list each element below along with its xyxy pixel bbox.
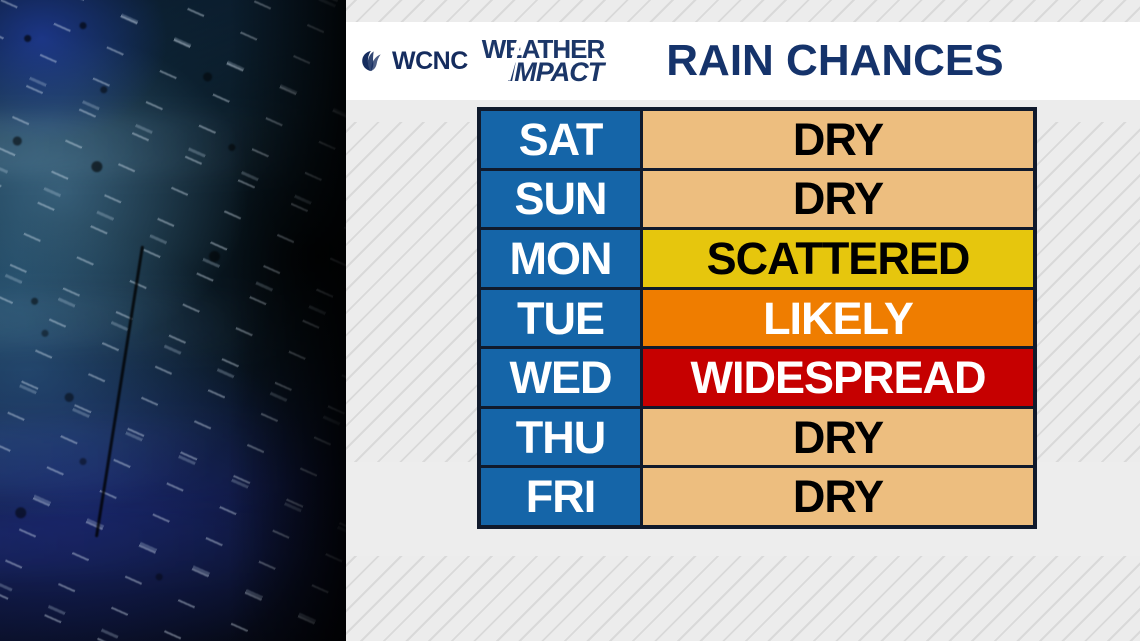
- page-title: RAIN CHANCES: [666, 36, 1003, 86]
- weather-impact-line2: IMPACT: [508, 59, 605, 86]
- day-label-cell: MON: [481, 230, 640, 287]
- table-row: THUDRY: [481, 409, 1033, 466]
- station-branding: WCNC: [360, 49, 468, 74]
- header-bar: WCNC WEATHER IMPACT RAIN CHANCES: [346, 22, 1140, 100]
- diagonal-stripe-band: [346, 0, 1140, 22]
- day-label-cell: WED: [481, 349, 640, 406]
- day-label-cell: SUN: [481, 171, 640, 228]
- day-label-cell: TUE: [481, 290, 640, 347]
- day-label-cell: SAT: [481, 111, 640, 168]
- day-label-cell: THU: [481, 409, 640, 466]
- rain-chances-table: SATDRYSUNDRYMONSCATTEREDTUELIKELYWEDWIDE…: [477, 107, 1037, 529]
- weather-graphic: WCNC WEATHER IMPACT RAIN CHANCES SATDRYS…: [0, 0, 1140, 641]
- rain-chance-cell: WIDESPREAD: [643, 349, 1033, 406]
- weather-impact-logo: WEATHER IMPACT: [482, 36, 605, 86]
- rain-chance-cell: DRY: [643, 171, 1033, 228]
- nbc-peacock-icon: [360, 50, 382, 72]
- rain-storm-photo: [0, 0, 346, 641]
- rain-chance-cell: SCATTERED: [643, 230, 1033, 287]
- station-callsign: WCNC: [392, 49, 468, 74]
- table-row: SUNDRY: [481, 171, 1033, 228]
- diagonal-stripe-band: [346, 556, 1140, 641]
- rain-chance-cell: DRY: [643, 111, 1033, 168]
- table-row: WEDWIDESPREAD: [481, 349, 1033, 406]
- table-row: MONSCATTERED: [481, 230, 1033, 287]
- rain-chance-cell: DRY: [643, 409, 1033, 466]
- day-label-cell: FRI: [481, 468, 640, 525]
- table-row: FRIDRY: [481, 468, 1033, 525]
- rain-chance-cell: LIKELY: [643, 290, 1033, 347]
- rain-chance-cell: DRY: [643, 468, 1033, 525]
- photo-edge-fade: [228, 0, 346, 641]
- table-row: TUELIKELY: [481, 290, 1033, 347]
- table-row: SATDRY: [481, 111, 1033, 168]
